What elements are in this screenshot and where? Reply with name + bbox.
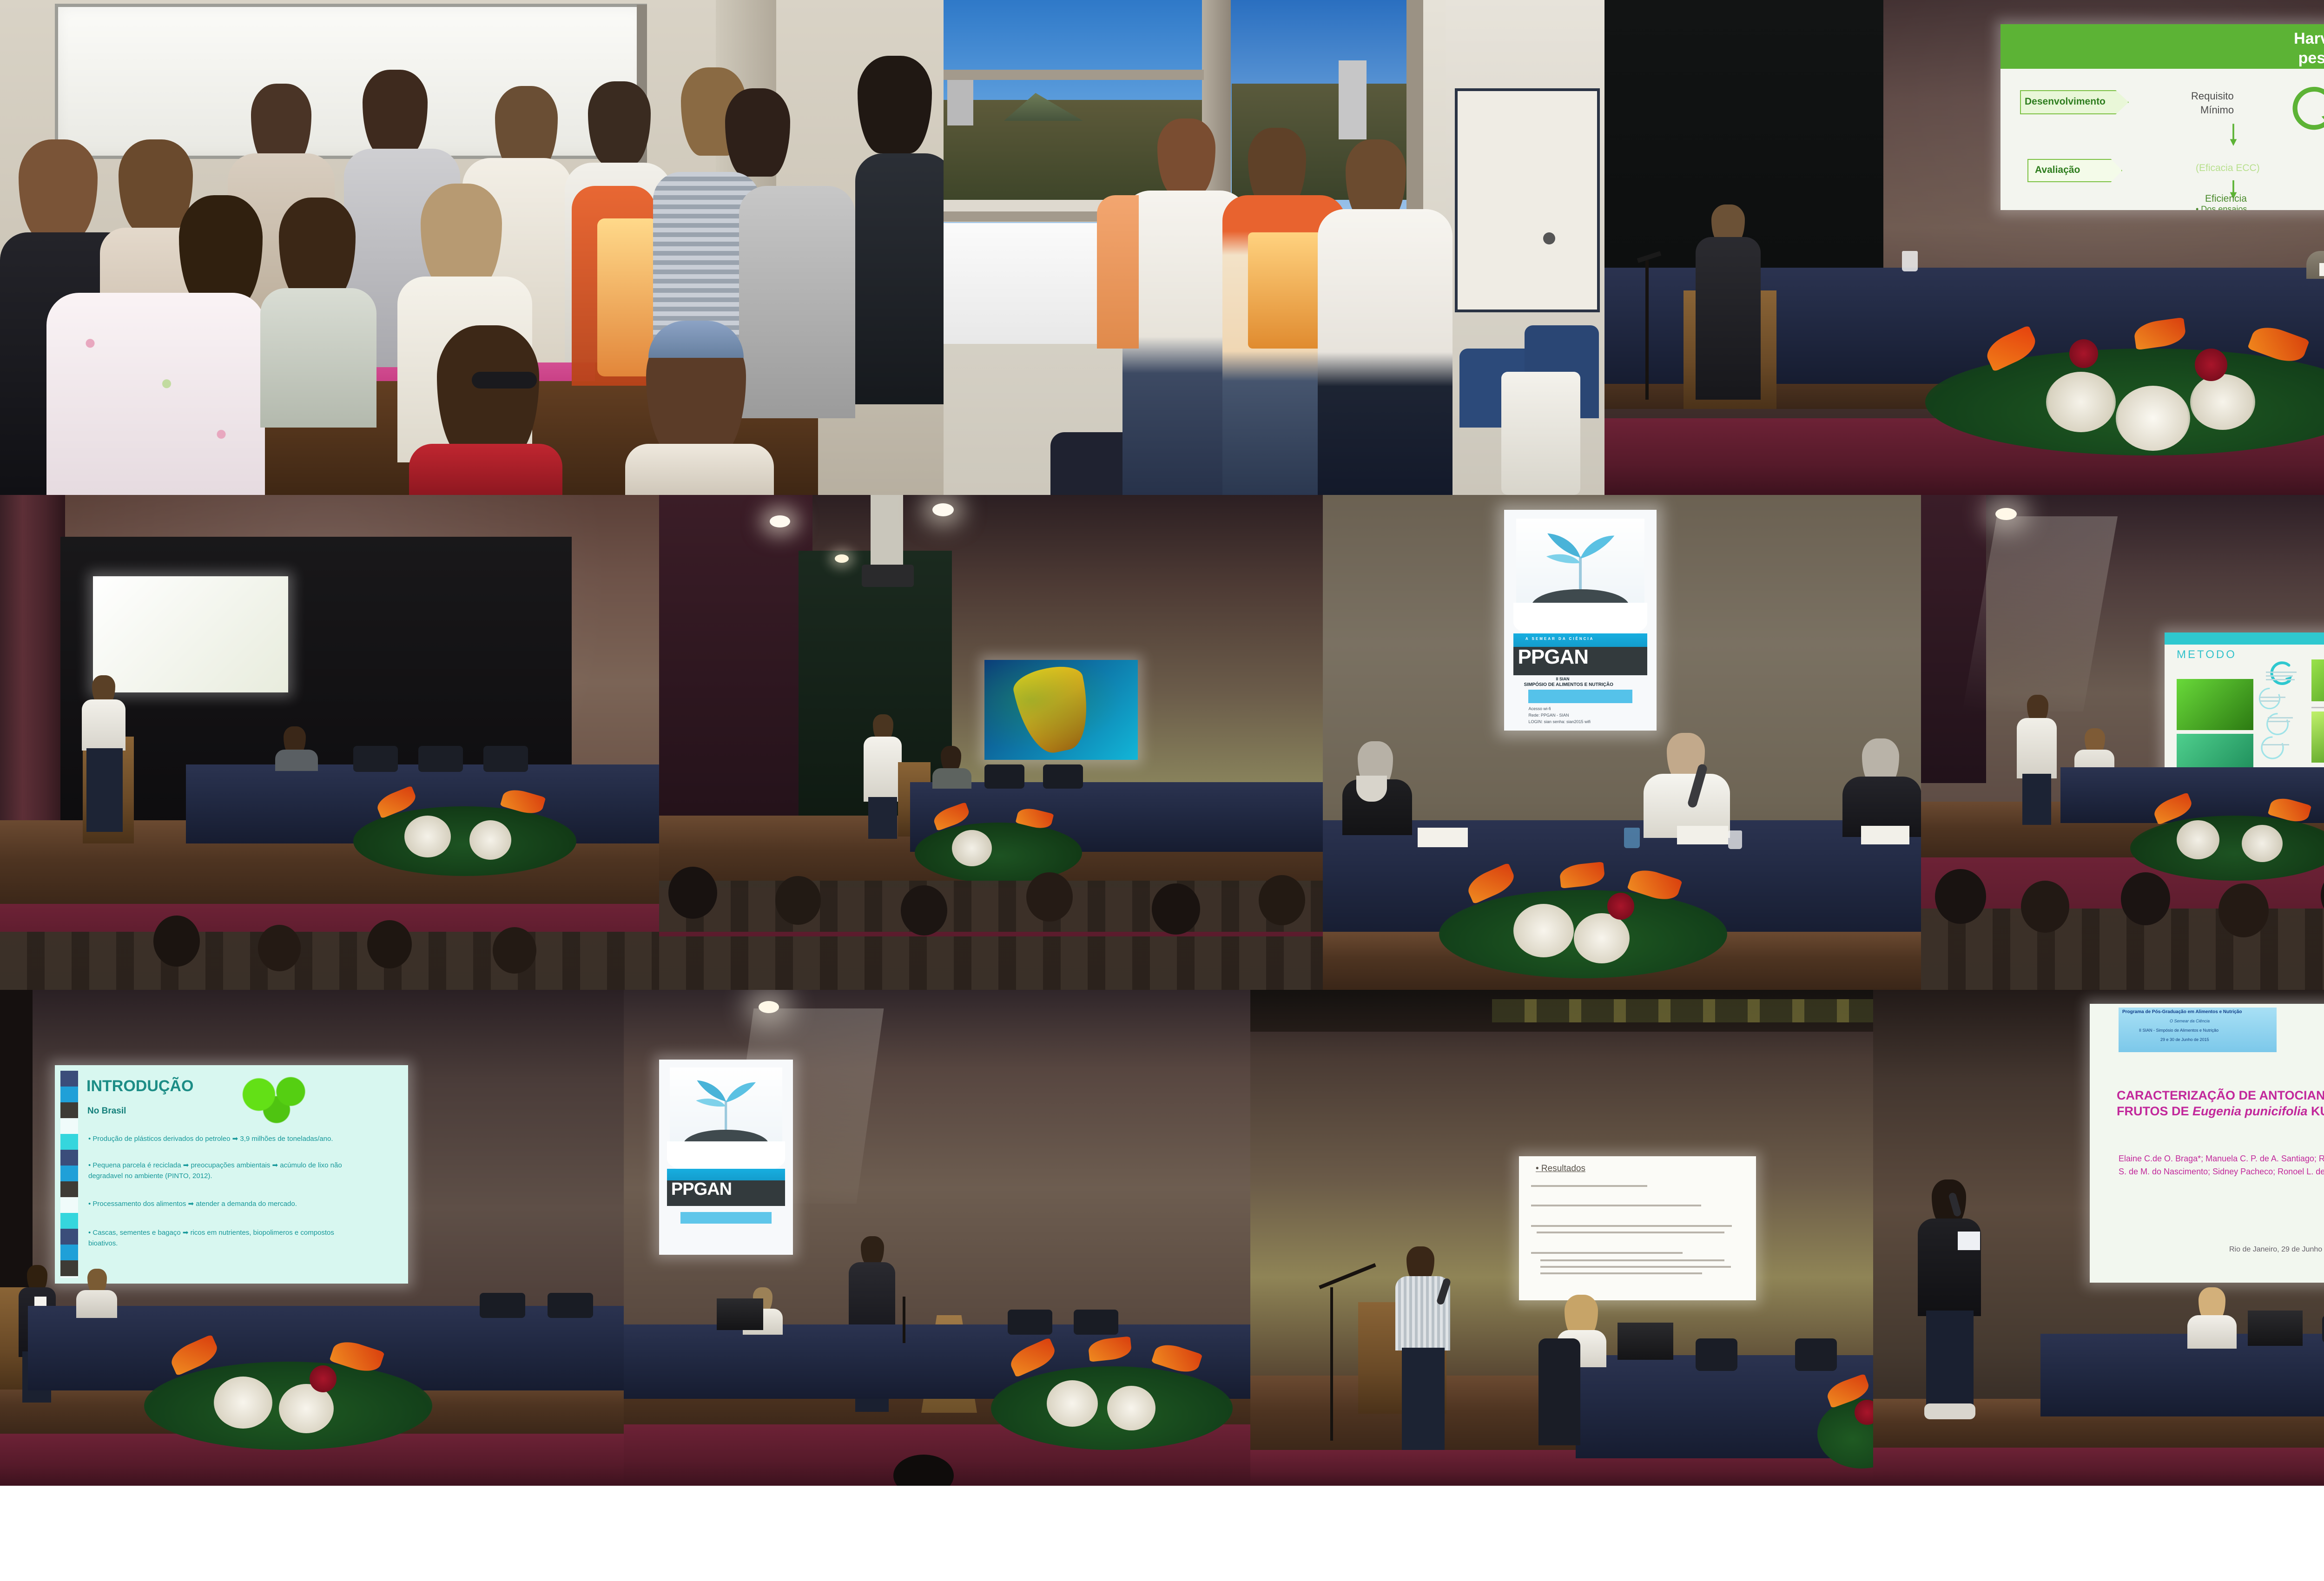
red-bloom-1 bbox=[2195, 349, 2227, 381]
lily-1 bbox=[1047, 1380, 1098, 1427]
cacao-foliage-overlay bbox=[984, 660, 1138, 760]
event-header-line3: II SIAN - Simpósio de Alimentos e Nutriç… bbox=[2139, 1028, 2218, 1033]
window-rail-1 bbox=[944, 70, 1204, 80]
audience-seat-row bbox=[0, 932, 659, 990]
heliconia-3 bbox=[1088, 1336, 1132, 1362]
audience-head-1 bbox=[153, 916, 200, 967]
chair-back-1 bbox=[2322, 1315, 2324, 1343]
bullet-line-2 bbox=[1531, 1205, 1701, 1206]
panel-cacao-slide-presentation bbox=[659, 495, 1323, 990]
panel-metodo-slide-presentation: METODO bbox=[1921, 495, 2324, 990]
city-building-1 bbox=[947, 74, 973, 125]
chair-back-2 bbox=[1696, 1338, 1737, 1371]
ceiling-projector bbox=[862, 565, 914, 587]
chair-back-1 bbox=[1538, 1338, 1580, 1445]
flower-arrangement bbox=[1813, 1357, 1873, 1469]
step-text-line-7 bbox=[2268, 721, 2290, 722]
presenter-legs bbox=[1926, 1311, 1974, 1413]
chair-back-1 bbox=[480, 1293, 525, 1318]
person-kneeling-left bbox=[437, 325, 539, 460]
event-header-line1: Programa de Pós-Graduação em Alimentos e… bbox=[2122, 1009, 2242, 1014]
audience-head-2 bbox=[2021, 881, 2069, 933]
eyeglasses bbox=[472, 372, 537, 389]
laptop bbox=[1618, 1323, 1673, 1360]
slide-title-line2: pesquisa em Nutrição bbox=[2298, 49, 2324, 67]
audience-head-2 bbox=[775, 876, 821, 925]
audience-head-1 bbox=[668, 867, 717, 919]
ceiling-light-1 bbox=[770, 515, 790, 527]
ppgan-poster-slide-2: PPGAN bbox=[659, 1060, 793, 1255]
seated-person-torso bbox=[76, 1290, 117, 1318]
whiteboard bbox=[55, 4, 647, 159]
method-photo-1 bbox=[2177, 679, 2253, 730]
door-knob bbox=[1543, 232, 1555, 244]
ceiling-projector-mount bbox=[871, 495, 903, 569]
ppgan-poster-slide: A SEMEAR DA CIÊNCIA PPGAN II SIAN SIMPÓS… bbox=[1504, 510, 1657, 731]
poster-wifi-line-2: Rede: PPGAN - SIAN bbox=[1528, 713, 1569, 718]
microphone-stand bbox=[1330, 1287, 1333, 1441]
presenter-shoes bbox=[1924, 1403, 1975, 1419]
bullet-line-3a bbox=[1531, 1225, 1732, 1227]
method-photo-2 bbox=[2177, 734, 2253, 772]
label-requisito-minimo-2: Mínimo bbox=[2200, 104, 2234, 116]
chair-back-2 bbox=[548, 1293, 593, 1318]
bullet-line-4b bbox=[1540, 1259, 1724, 1261]
person-front-3 bbox=[179, 195, 263, 307]
harvestplus-slide: HarvestPlus: Fases de pesquisa em Nutriç… bbox=[2000, 24, 2324, 210]
head-table bbox=[2040, 1334, 2324, 1416]
ceiling-light-2 bbox=[932, 503, 954, 516]
flower-arrangement bbox=[335, 764, 595, 881]
audience-head-1 bbox=[1935, 869, 1986, 924]
laptop bbox=[717, 1298, 763, 1330]
audience-seat-row-back bbox=[659, 881, 1323, 932]
microphone-stand bbox=[903, 1297, 905, 1343]
poster-tagline: A SEMEAR DA CIÊNCIA bbox=[1525, 637, 1594, 641]
introducao-slide: INTRODUÇÃO No Brasil • Produção de plást… bbox=[55, 1065, 408, 1284]
panel-three-women-by-window bbox=[944, 0, 1604, 495]
name-badge bbox=[1958, 1232, 1980, 1250]
audience-head-4 bbox=[493, 927, 536, 974]
panel-introducao-slide-presentation: INTRODUÇÃO No Brasil • Produção de plást… bbox=[0, 990, 624, 1486]
person-torso-grey-hoodie bbox=[739, 186, 855, 418]
projection-screen-introducao: INTRODUÇÃO No Brasil • Produção de plást… bbox=[55, 1065, 408, 1284]
poster-subtitle-1: II SIAN bbox=[1556, 677, 1570, 681]
projection-screen-blank bbox=[93, 576, 288, 692]
audience-head-3 bbox=[901, 885, 947, 935]
flower-arrangement bbox=[2116, 774, 2324, 881]
presenter-torso bbox=[864, 737, 902, 802]
flower-arrangement bbox=[977, 1315, 1247, 1450]
step-text-line-8 bbox=[2262, 744, 2289, 745]
step-text-line-3 bbox=[2266, 679, 2295, 680]
panel-harvestplus-presentation: HarvestPlus: Fases de pesquisa em Nutriç… bbox=[1604, 0, 2324, 495]
label-eficacia-ecc: (Eficacia ECC) bbox=[2196, 163, 2260, 174]
person-back-2 bbox=[363, 70, 428, 156]
lily-1 bbox=[2177, 820, 2219, 859]
bullet-1: • Produção de plásticos derivados do pet… bbox=[88, 1134, 349, 1145]
panelist-1-beard bbox=[1356, 776, 1387, 802]
green-produce-image bbox=[232, 1074, 321, 1125]
foliage-base bbox=[353, 806, 576, 876]
label-desenvolvimento: Desenvolvimento bbox=[2025, 96, 2106, 107]
bullet-line-4a bbox=[1531, 1252, 1683, 1254]
flower-arrangement bbox=[901, 785, 1096, 888]
projection-screen-cacao bbox=[984, 660, 1138, 760]
metodo-slide: METODO bbox=[2165, 632, 2324, 782]
lily-1 bbox=[2046, 372, 2116, 432]
cycle-arrow-icon bbox=[2287, 83, 2324, 135]
poster-logo-text: PPGAN bbox=[1518, 646, 1588, 669]
standing-presenter-head bbox=[1932, 1179, 1966, 1224]
audience-seat-row-front bbox=[659, 936, 1323, 990]
method-photo-3 bbox=[2311, 659, 2324, 701]
person-back-3 bbox=[495, 86, 558, 170]
flower-arrangement bbox=[125, 1311, 451, 1450]
slide-top-band bbox=[2165, 632, 2324, 645]
lily-1 bbox=[952, 830, 992, 866]
slide-place-date: Rio de Janeiro, 29 de Junho de 2015 bbox=[2229, 1245, 2324, 1254]
standing-speaker-body bbox=[1696, 237, 1761, 400]
speaker-legs bbox=[86, 748, 123, 832]
foliage-base bbox=[2130, 816, 2324, 881]
poster-wifi-line-1: Acesso wi-fi bbox=[1528, 706, 1551, 711]
bullet-dos-ensaios: • Dos ensaios bbox=[2196, 204, 2247, 210]
name-placard-3 bbox=[1861, 826, 1909, 844]
arrow-down-icon-1 bbox=[2228, 123, 2238, 149]
door-panel bbox=[1455, 88, 1600, 312]
person-front-left bbox=[19, 139, 98, 239]
heliconia-3 bbox=[1559, 862, 1605, 889]
audience-head-4 bbox=[2218, 883, 2269, 937]
lily-1 bbox=[404, 816, 451, 857]
person-back-7 bbox=[858, 56, 932, 153]
panelist-torso bbox=[275, 750, 318, 771]
person-front-4 bbox=[279, 198, 356, 300]
cycle-step-icon-4 bbox=[2255, 733, 2290, 763]
presenter-torso bbox=[2017, 718, 2057, 778]
name-badge bbox=[34, 1297, 46, 1307]
poster-footer-band bbox=[1528, 690, 1632, 703]
name-placard bbox=[2319, 263, 2324, 276]
poster-wifi-line-3: LOGIN: sian senha: sian2015 wifi bbox=[1528, 719, 1591, 724]
flower-arrangement bbox=[1420, 839, 1746, 978]
step-text-line-6 bbox=[2268, 717, 2293, 718]
slide-title: • Resultados bbox=[1536, 1164, 1585, 1174]
woman-right-body bbox=[1318, 209, 1452, 495]
person-front-2 bbox=[119, 139, 193, 232]
ceiling-light-rail bbox=[1492, 999, 1873, 1022]
panel-resultados-slide-podium: • Resultados bbox=[1250, 990, 1873, 1486]
lily-2 bbox=[2116, 386, 2190, 451]
speaker-legs bbox=[1402, 1348, 1445, 1450]
audience-head-3 bbox=[2121, 872, 2170, 925]
standing-speaker-head bbox=[861, 1236, 884, 1265]
lily-1 bbox=[1513, 904, 1574, 957]
resultados-slide: • Resultados bbox=[1519, 1156, 1756, 1300]
event-header-line4: 29 e 30 de Junho de 2015 bbox=[2160, 1037, 2209, 1042]
microphone-stand bbox=[1645, 260, 1649, 400]
projection-screen-resultados: • Resultados bbox=[1519, 1156, 1756, 1300]
label-requisito-minimo-1: Requisito bbox=[2191, 90, 2234, 102]
label-eficiencia: Eficiencia bbox=[2205, 193, 2247, 204]
panel-ppgan-panel-table: A SEMEAR DA CIÊNCIA PPGAN II SIAN SIMPÓS… bbox=[1323, 495, 1921, 990]
slide-subtitle: No Brasil bbox=[87, 1106, 126, 1116]
bottom-white-margin bbox=[0, 1486, 2324, 1581]
caption-line-1 bbox=[2311, 707, 2324, 708]
woman-right bbox=[1346, 139, 1406, 221]
audience-head-3 bbox=[367, 920, 412, 968]
person-back-1 bbox=[251, 84, 311, 165]
lily-1 bbox=[214, 1377, 272, 1429]
projection-screen-ppgan: A SEMEAR DA CIÊNCIA PPGAN II SIAN SIMPÓS… bbox=[1504, 510, 1657, 731]
lily-2 bbox=[1574, 913, 1630, 963]
stage-curtain-left bbox=[659, 495, 812, 820]
person-front-5 bbox=[421, 184, 502, 288]
audience-head-2 bbox=[258, 925, 301, 971]
seated-person-head bbox=[87, 1269, 107, 1293]
antocianinas-title-slide: Programa de Pós-Graduação em Alimentos e… bbox=[2090, 1004, 2324, 1283]
lily-2 bbox=[1107, 1386, 1155, 1430]
projection-screen-antocianinas: Programa de Pós-Graduação em Alimentos e… bbox=[2090, 1004, 2324, 1283]
laptop bbox=[2248, 1311, 2303, 1346]
white-tank-top bbox=[625, 444, 774, 495]
poster-logo-text: PPGAN bbox=[671, 1179, 732, 1199]
label-avaliacao: Avaliação bbox=[2035, 165, 2080, 176]
slide-header-band bbox=[2000, 24, 2324, 69]
audience-head-6 bbox=[1259, 875, 1305, 925]
slide-authors: Elaine C.de O. Braga*; Manuela C. P. de … bbox=[2119, 1153, 2324, 1179]
event-header-line2: O Semear da Ciência bbox=[2170, 1019, 2210, 1023]
species-name: Eugenia punicifolia bbox=[2192, 1104, 2308, 1118]
method-photo-4 bbox=[2311, 711, 2324, 763]
cartoon-print-tshirt bbox=[1248, 232, 1322, 349]
presenter-legs bbox=[868, 797, 897, 839]
audience-head-5 bbox=[1152, 883, 1200, 935]
seated-person-torso bbox=[2187, 1315, 2237, 1349]
projection-screen-metodo: METODO bbox=[2165, 632, 2324, 782]
red-bloom-1 bbox=[1607, 893, 1634, 920]
lily-2 bbox=[469, 820, 511, 860]
slide-title-line1: HarvestPlus: Fases de bbox=[2294, 30, 2324, 48]
woman-left bbox=[1157, 119, 1215, 195]
standing-speaker-head bbox=[1406, 1246, 1434, 1281]
step-text-line-1 bbox=[2266, 672, 2297, 673]
projection-screen-ppgan-2: PPGAN bbox=[659, 1060, 793, 1255]
bullet-3: • Processamento dos alimentos ➡ atender … bbox=[88, 1199, 349, 1210]
lily-3 bbox=[2190, 374, 2255, 430]
flower-arrangement bbox=[1893, 279, 2324, 455]
photo-collage: HarvestPlus: Fases de pesquisa em Nutriç… bbox=[0, 0, 2324, 1581]
ceiling-light-3 bbox=[835, 554, 849, 563]
red-bloom-1 bbox=[310, 1365, 337, 1392]
seated-panelist bbox=[941, 746, 961, 771]
slide-title-line1: CARACTERIZAÇÃO DE ANTOCIANINAS EM bbox=[2117, 1088, 2324, 1103]
projection-screen-harvestplus: HarvestPlus: Fases de pesquisa em Nutriç… bbox=[2000, 24, 2324, 210]
floor-carpet bbox=[1873, 1448, 2324, 1486]
audience-head-4 bbox=[1026, 872, 1073, 922]
panel-antocianinas-slide-presenter: Programa de Pós-Graduação em Alimentos e… bbox=[1873, 990, 2324, 1486]
speaker-torso bbox=[82, 699, 125, 751]
lily-2 bbox=[2242, 825, 2283, 862]
step-text-line-2 bbox=[2266, 675, 2293, 677]
slide-side-color-strip bbox=[60, 1071, 78, 1278]
slide-title: METODO bbox=[2177, 648, 2237, 661]
panel-speaker-white-screen bbox=[0, 495, 659, 990]
heliconia-3 bbox=[2133, 317, 2187, 350]
peach-cardigan bbox=[1097, 195, 1139, 349]
poster-subtitle-2: SIMPÓSIO DE ALIMENTOS E NUTRIÇÃO bbox=[1524, 682, 1613, 687]
bullet-line-4d bbox=[1540, 1272, 1702, 1274]
person-back-4 bbox=[588, 81, 651, 165]
cycle-step-icon-2 bbox=[2253, 685, 2286, 712]
person-back-6 bbox=[725, 88, 790, 177]
bullet-2: • Pequena parcela é reciclada ➡ preocupa… bbox=[88, 1160, 349, 1181]
person-floral-blouse bbox=[46, 293, 265, 495]
person-torso-front-4 bbox=[260, 288, 376, 428]
step-text-line-4 bbox=[2259, 697, 2285, 698]
white-sweater-on-chair bbox=[1501, 372, 1580, 495]
person-torso-dark bbox=[855, 153, 944, 404]
panel-group-photo-laboratory bbox=[0, 0, 944, 495]
bullet-line-1 bbox=[1531, 1185, 1647, 1187]
city-building-2 bbox=[1339, 60, 1367, 139]
presenter-legs bbox=[2022, 774, 2051, 825]
bullet-line-4c bbox=[1540, 1266, 1731, 1268]
bullet-4: • Cascas, sementes e bagaço ➡ ricos em n… bbox=[88, 1228, 349, 1249]
slide-title: INTRODUÇÃO bbox=[86, 1077, 193, 1095]
bullet-line-3b bbox=[1537, 1232, 1724, 1233]
panel-ppgan-slide-stage: PPGAN bbox=[624, 990, 1250, 1486]
slide-title-line2: FRUTOS DE Eugenia punicifolia KUNTH DC bbox=[2117, 1104, 2324, 1119]
red-bloom-2 bbox=[2069, 339, 2098, 368]
poster-footer-band bbox=[680, 1212, 772, 1224]
water-glass bbox=[1902, 251, 1918, 271]
red-jersey bbox=[409, 444, 562, 495]
step-text-line-5 bbox=[2259, 700, 2280, 702]
